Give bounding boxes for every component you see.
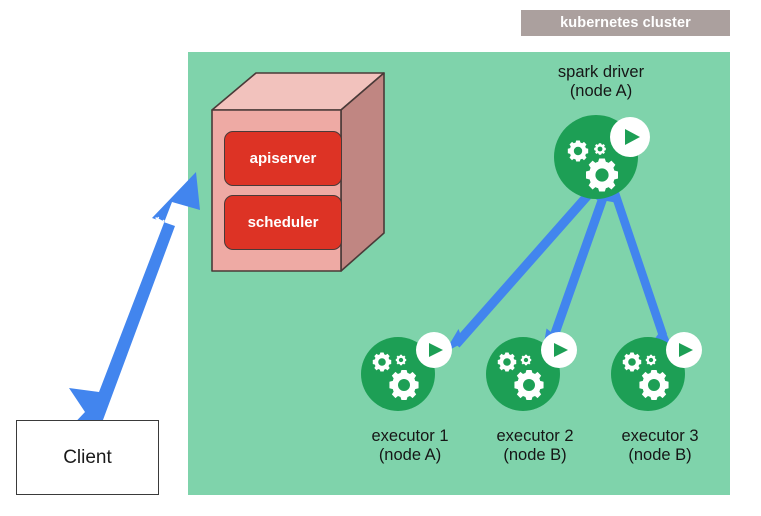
- driver-gear-icon-large: [586, 159, 618, 192]
- component-scheduler[interactable]: scheduler: [224, 195, 342, 250]
- executor-3-gear-icon-large: [639, 370, 668, 400]
- spark-driver-label: spark driver (node A): [506, 63, 696, 102]
- component-scheduler-label: scheduler: [248, 215, 319, 230]
- node-executor-1[interactable]: [361, 332, 452, 411]
- executor-1-gear-icon-medium: [373, 353, 391, 372]
- executor-1-gear-icon-small: [396, 355, 406, 365]
- component-apiserver[interactable]: apiserver: [224, 131, 342, 186]
- component-apiserver-label: apiserver: [250, 151, 317, 166]
- executor-3-gear-icon-medium: [623, 353, 641, 372]
- executor-2-gear-icon-small: [521, 355, 531, 365]
- executor-2-gear-icon-large: [514, 370, 543, 400]
- client-label: Client: [63, 448, 112, 467]
- executor-3-label: executor 3 (node B): [580, 427, 740, 466]
- spark-submit-arrow: [66, 172, 200, 432]
- driver-gear-icon-medium: [568, 141, 588, 162]
- client-box[interactable]: Client: [16, 420, 159, 495]
- connection-driver-executor-3: [604, 181, 674, 351]
- executor-3-gear-icon-small: [646, 355, 656, 365]
- driver-gear-icon-small: [594, 143, 606, 155]
- node-spark-driver[interactable]: [554, 115, 650, 199]
- node-executor-2[interactable]: [486, 332, 577, 411]
- executor-2-gear-icon-medium: [498, 353, 516, 372]
- node-executor-3[interactable]: [611, 332, 702, 411]
- executor-1-gear-icon-large: [389, 370, 418, 400]
- driver-executor-connections: [445, 181, 674, 353]
- diagram-canvas: kubernetes cluster: [0, 0, 761, 516]
